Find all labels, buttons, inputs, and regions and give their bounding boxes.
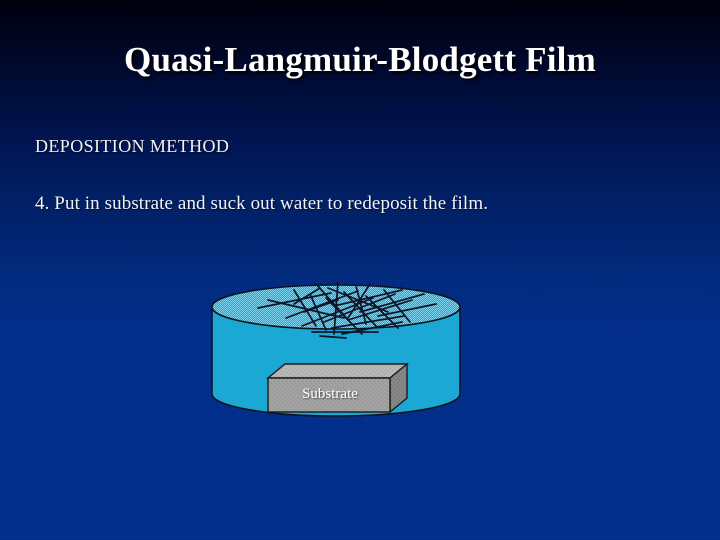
deposition-diagram	[198, 282, 478, 440]
background-decorative-ribbons	[0, 0, 720, 540]
substrate-block	[268, 364, 407, 412]
presentation-slide: Quasi-Langmuir-Blodgett Film DEPOSITION …	[0, 0, 720, 540]
slide-title: Quasi-Langmuir-Blodgett Film	[0, 40, 720, 80]
section-subheading: DEPOSITION METHOD	[35, 136, 229, 157]
step-text: 4. Put in substrate and suck out water t…	[35, 193, 488, 215]
